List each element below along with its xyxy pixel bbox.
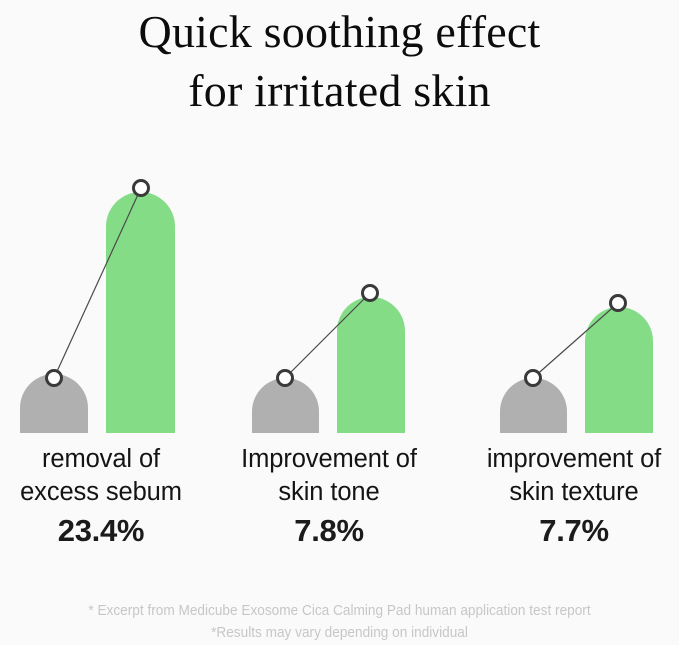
metric-label-line-2: skin texture xyxy=(464,476,679,509)
footnote: * Excerpt from Medicube Exosome Cica Cal… xyxy=(0,600,679,644)
metric-percent-value: 7.7% xyxy=(464,511,679,551)
metric-label-line-1: Improvement of xyxy=(219,443,439,476)
after-bar xyxy=(585,307,653,433)
bar-group-0 xyxy=(20,181,175,434)
metric-group-removal-of-excess-sebum: removal of excess sebum 23.4% xyxy=(0,443,211,551)
after-bar xyxy=(337,297,405,433)
before-marker-icon xyxy=(278,371,293,386)
metric-percent-value: 23.4% xyxy=(0,511,211,551)
footnote-line-1: * Excerpt from Medicube Exosome Cica Cal… xyxy=(20,600,658,622)
after-marker-icon xyxy=(611,296,626,311)
metric-label-line-2: excess sebum xyxy=(0,476,211,509)
after-bar xyxy=(106,192,175,433)
after-marker-icon xyxy=(363,286,378,301)
before-marker-icon xyxy=(526,371,541,386)
before-marker-icon xyxy=(47,371,62,386)
footnote-line-2: *Results may vary depending on individua… xyxy=(20,622,658,644)
metric-percent-value: 7.8% xyxy=(219,511,439,551)
metric-label-line-1: removal of xyxy=(0,443,211,476)
metric-label-line-2: skin tone xyxy=(219,476,439,509)
metric-label-line-1: improvement of xyxy=(464,443,679,476)
metric-group-improvement-of-skin-tone: Improvement of skin tone 7.8% xyxy=(219,443,439,551)
after-marker-icon xyxy=(134,181,149,196)
bar-group-1 xyxy=(252,286,405,434)
metric-group-improvement-of-skin-texture: improvement of skin texture 7.7% xyxy=(464,443,679,551)
bar-group-2 xyxy=(500,296,653,434)
